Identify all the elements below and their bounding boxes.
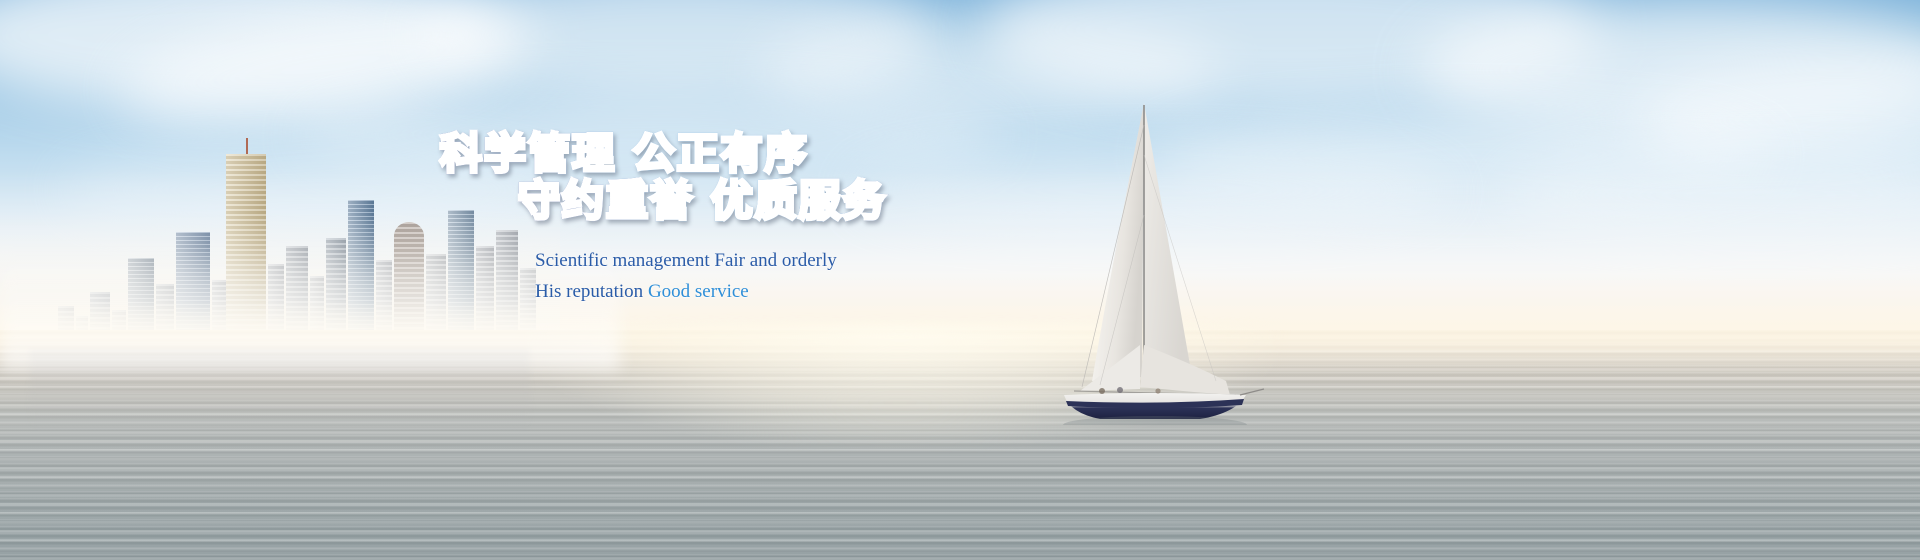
subtitle-line-2: His reputation Good service bbox=[535, 277, 910, 308]
banner-text-block: 科学管理 公正有序 守约重誉 优质服务 Scientific managemen… bbox=[440, 130, 910, 308]
subtitle-line-2-plain: His reputation bbox=[535, 281, 648, 302]
tower-antenna bbox=[246, 138, 248, 154]
subtitle-line-1: Scientific management Fair and orderly bbox=[535, 246, 910, 277]
subtitle-line-2-accent: Good service bbox=[648, 281, 749, 302]
headline-line-1: 科学管理 公正有序 bbox=[440, 130, 910, 177]
headline-line-2: 守约重誉 优质服务 bbox=[518, 177, 910, 224]
sailboat bbox=[1040, 95, 1270, 425]
hero-banner: 科学管理 公正有序 守约重誉 优质服务 Scientific managemen… bbox=[0, 0, 1920, 560]
